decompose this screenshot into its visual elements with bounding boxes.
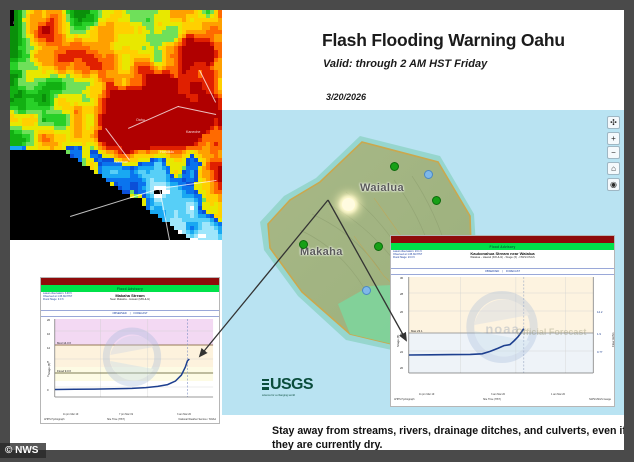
valid-through-text: Valid: through 2 AM HST Friday [323,58,487,70]
presentation-slide: 0.1 in/1.0 hr 1.0 in/3.0 hr 2.0 in/6.0 h… [0,0,634,462]
nws-credit: © NWS [0,443,46,458]
date-text: 3/20/2026 [326,92,366,102]
slide-canvas: 0.1 in/1.0 hr 1.0 in/3.0 hr 2.0 in/6.0 h… [10,10,624,450]
annotation-arrows [10,10,624,450]
arrow-to-makaha-hydrograph [200,200,328,356]
arrow-to-kaukonahua-hydrograph [328,200,406,340]
safety-warning-text: Stay away from streams, rivers, drainage… [272,425,624,450]
page-title: Flash Flooding Warning Oahu [322,30,565,51]
